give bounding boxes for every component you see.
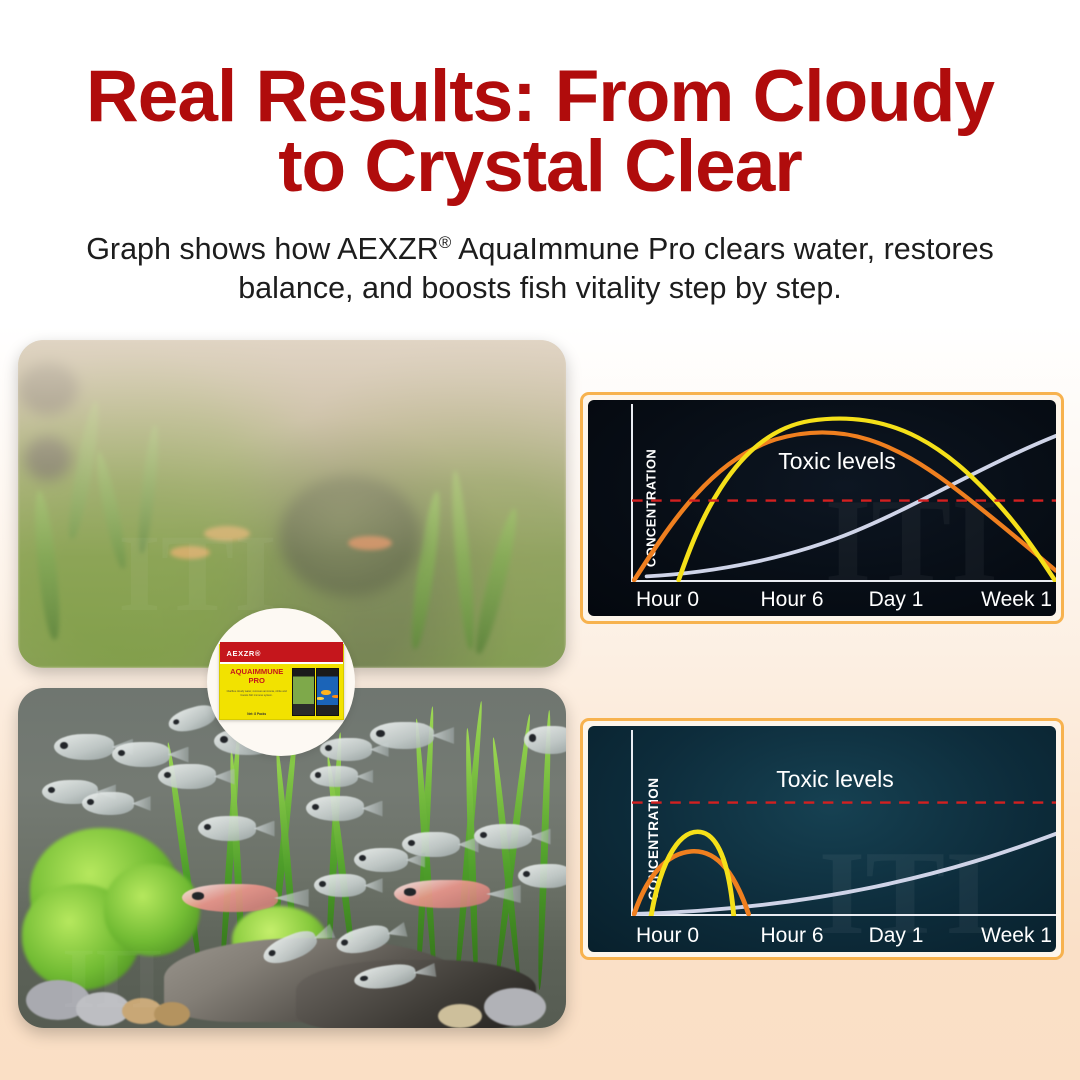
title-line-1: Real Results: From Cloudy	[86, 56, 994, 137]
chart-after-treatment: ITI CONCENTRATION Toxic levels Hour 0 Ho…	[580, 718, 1064, 960]
fish-tetra	[518, 864, 566, 888]
product-name-line-2: PRO	[248, 676, 264, 685]
fish-tetra-red	[394, 880, 490, 908]
x-tick-2: Day 1	[844, 924, 948, 948]
x-tick-3: Week 1	[948, 924, 1054, 948]
fish-tetra	[314, 874, 366, 897]
x-tick-1: Hour 6	[740, 588, 844, 612]
fish-tetra	[402, 832, 460, 857]
subtitle-part-1: Graph shows how AEXZR	[86, 232, 439, 266]
x-tick-1: Hour 6	[740, 924, 844, 948]
tank-after-image	[316, 668, 339, 716]
chart-after-x-ticks: Hour 0 Hour 6 Day 1 Week 1	[632, 924, 1054, 948]
fish-tetra	[474, 824, 532, 849]
product-badge[interactable]: AEXZR® AQUAIMMUNE PRO Clarifies cloudy w…	[207, 608, 355, 756]
pebble	[484, 988, 546, 1026]
pebble	[438, 1004, 482, 1028]
content-board: ITI	[0, 330, 1080, 1080]
x-tick-0: Hour 0	[632, 924, 740, 948]
x-tick-3: Week 1	[948, 588, 1054, 612]
fish-tetra	[320, 738, 372, 761]
tank-before-image	[292, 668, 315, 716]
chart-after-threshold-line	[632, 726, 1056, 952]
product-brand: AEXZR®	[220, 645, 343, 664]
fish-tetra	[524, 726, 566, 754]
fish-tetra	[198, 816, 256, 841]
x-tick-0: Hour 0	[632, 588, 740, 612]
chart-before-treatment: ITI CONCENTRATION Toxic levels Hour 0	[580, 392, 1064, 624]
fish-tetra	[158, 764, 216, 789]
registered-mark: ®	[439, 233, 452, 252]
chart-after-canvas: ITI CONCENTRATION Toxic levels Hour 0 Ho…	[588, 726, 1056, 952]
chart-before-x-ticks: Hour 0 Hour 6 Day 1 Week 1	[632, 588, 1054, 612]
product-description: Clarifies cloudy water, removes ammonia,…	[225, 690, 289, 698]
fish-tetra	[354, 848, 408, 872]
fish-tetra-red	[182, 884, 278, 912]
page-subtitle: Graph shows how AEXZR® AquaImmune Pro cl…	[0, 230, 1080, 307]
fish-tetra	[310, 766, 358, 787]
product-comparison-images	[292, 668, 339, 716]
title-line-2: to Crystal Clear	[278, 126, 802, 207]
product-quantity: Net: 8 Packs	[225, 712, 289, 716]
product-package: AEXZR® AQUAIMMUNE PRO Clarifies cloudy w…	[219, 644, 344, 720]
fish-tetra	[306, 796, 364, 821]
pebble	[154, 1002, 190, 1026]
fish-tetra	[82, 792, 134, 815]
chart-before-threshold-line	[632, 400, 1056, 616]
chart-before-canvas: ITI CONCENTRATION Toxic levels Hour 0	[588, 400, 1056, 616]
fish-tetra	[54, 734, 114, 760]
product-name: AQUAIMMUNE PRO	[225, 668, 289, 685]
fish-tetra	[370, 722, 434, 749]
x-tick-2: Day 1	[844, 588, 948, 612]
page-title: Real Results: From Cloudy to Crystal Cle…	[0, 0, 1080, 202]
